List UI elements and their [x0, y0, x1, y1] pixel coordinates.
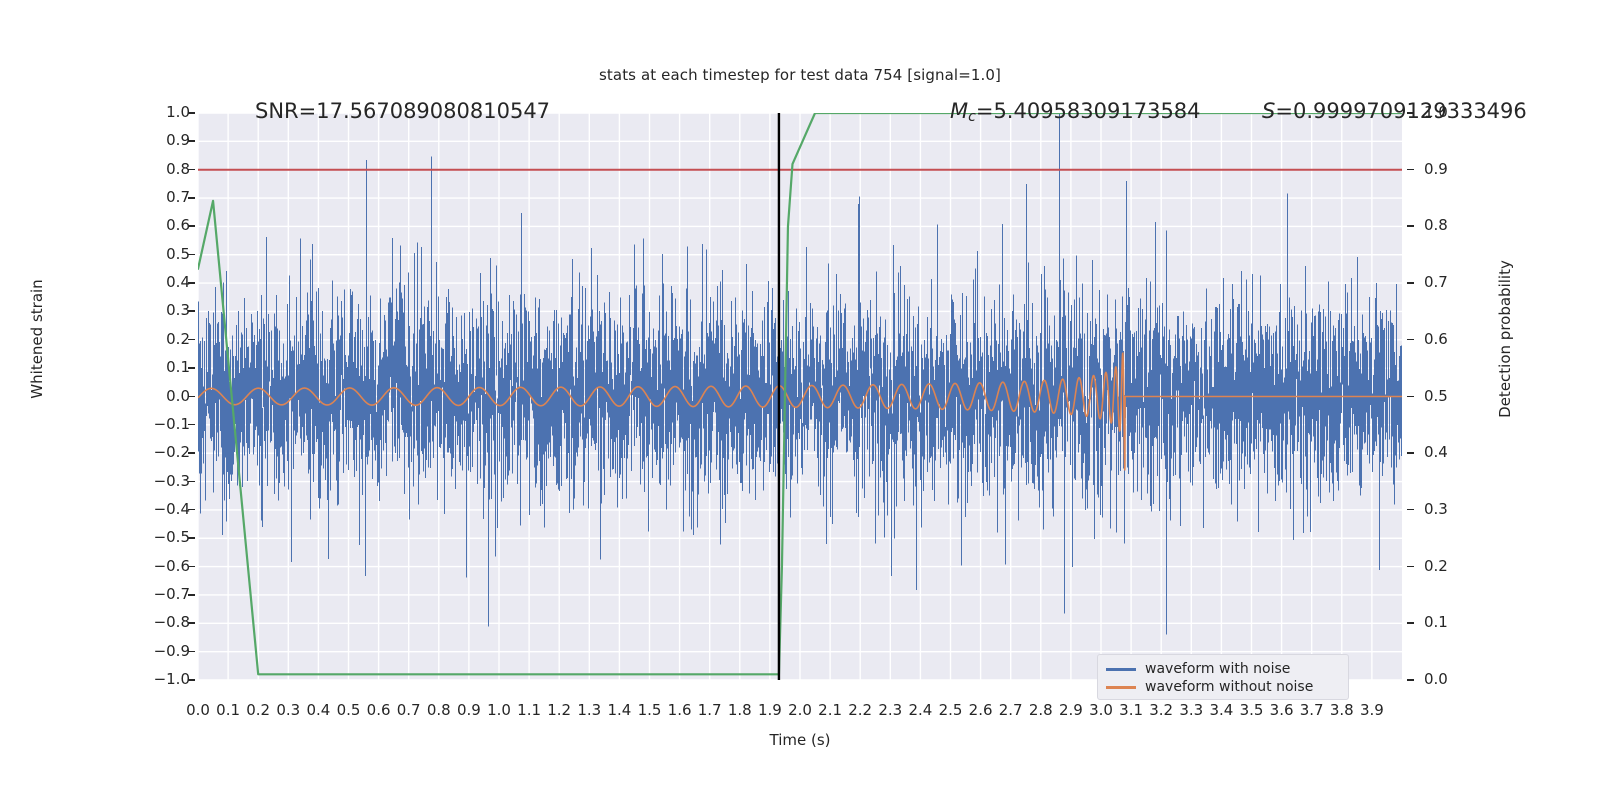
y-tick-label-right: 0.7 — [1424, 275, 1544, 290]
legend-item-label: waveform with noise — [1145, 662, 1290, 676]
y-tick-mark-left — [188, 140, 195, 142]
annotation-s-symbol: S — [1262, 99, 1275, 123]
y-tick-label-left: 0.4 — [70, 275, 190, 290]
y-tick-label-left: −0.7 — [70, 587, 190, 602]
y-tick-mark-left — [188, 509, 195, 511]
y-tick-mark-left — [188, 169, 195, 171]
y-tick-label-left: −0.5 — [70, 530, 190, 545]
chart-figure: stats at each timestep for test data 754… — [0, 0, 1600, 800]
legend-swatch-icon — [1106, 686, 1136, 689]
legend-item[interactable]: waveform without noise — [1106, 678, 1340, 696]
y-tick-label-right: 0.6 — [1424, 332, 1544, 347]
y-tick-label-left: −0.9 — [70, 644, 190, 659]
y-tick-mark-left — [188, 452, 195, 454]
annotation-chirp-mass: Mc=5.40958309173584 — [950, 101, 1201, 124]
annotation-mc-subscript: c — [968, 109, 976, 125]
y-tick-mark-right — [1407, 169, 1414, 171]
y-tick-mark-left — [188, 197, 195, 199]
y-tick-mark-left — [188, 254, 195, 256]
y-tick-label-left: −0.8 — [70, 615, 190, 630]
y-tick-label-left: −0.1 — [70, 417, 190, 432]
y-tick-mark-right — [1407, 396, 1414, 398]
y-tick-mark-left — [188, 424, 195, 426]
y-tick-label-left: 0.0 — [70, 389, 190, 404]
y-tick-mark-left — [188, 481, 195, 483]
y-tick-mark-right — [1407, 566, 1414, 568]
y-tick-mark-right — [1407, 282, 1414, 284]
chart-legend: waveform with noisewaveform without nois… — [1097, 654, 1349, 700]
y-tick-mark-left — [188, 537, 195, 539]
y-tick-label-left: 0.3 — [70, 303, 190, 318]
y-tick-mark-left — [188, 396, 195, 398]
y-tick-label-left: 1.0 — [70, 105, 190, 120]
y-tick-label-right: 0.2 — [1424, 559, 1544, 574]
y-tick-label-left: −0.3 — [70, 474, 190, 489]
y-tick-label-left: 0.8 — [70, 162, 190, 177]
y-tick-label-left: 0.9 — [70, 133, 190, 148]
y-tick-label-left: −0.4 — [70, 502, 190, 517]
y-tick-label-left: 0.6 — [70, 218, 190, 233]
y-tick-label-right: 0.3 — [1424, 502, 1544, 517]
y-tick-label-left: 0.2 — [70, 332, 190, 347]
y-tick-label-right: 0.0 — [1424, 672, 1544, 687]
plot-area — [198, 113, 1402, 680]
y-tick-mark-left — [188, 622, 195, 624]
y-tick-mark-left — [188, 651, 195, 653]
y-tick-label-left: 0.5 — [70, 247, 190, 262]
plot-canvas — [198, 113, 1402, 680]
annotation-score: S=0.9999709129333496 — [1262, 101, 1527, 122]
y-tick-mark-left — [188, 566, 195, 568]
y-tick-mark-left — [188, 310, 195, 312]
y-tick-mark-left — [188, 367, 195, 369]
y-tick-mark-left — [188, 594, 195, 596]
y-tick-label-left: −0.2 — [70, 445, 190, 460]
annotation-mc-equals: = — [976, 99, 994, 123]
y-tick-label-left: 0.7 — [70, 190, 190, 205]
y-tick-label-right: 0.8 — [1424, 218, 1544, 233]
annotation-s-equals: = — [1275, 99, 1293, 123]
annotation-snr-label: SNR= — [255, 99, 316, 123]
y-tick-mark-right — [1407, 509, 1414, 511]
annotation-snr-value: 17.567089080810547 — [316, 99, 550, 123]
x-axis-label: Time (s) — [0, 731, 1600, 749]
y-tick-mark-left — [188, 282, 195, 284]
y-axis-label-left: Whitened strain — [28, 239, 46, 439]
annotation-s-value: 0.9999709129333496 — [1293, 99, 1527, 123]
y-tick-label-right: 0.9 — [1424, 162, 1544, 177]
annotation-mc-value: 5.40958309173584 — [993, 99, 1200, 123]
y-tick-mark-right — [1407, 622, 1414, 624]
y-tick-label-right: 0.5 — [1424, 389, 1544, 404]
y-tick-mark-left — [188, 679, 195, 681]
y-tick-mark-right — [1407, 679, 1414, 681]
y-tick-label-right: 0.1 — [1424, 615, 1544, 630]
y-tick-mark-right — [1407, 225, 1414, 227]
chart-title: stats at each timestep for test data 754… — [0, 66, 1600, 84]
y-tick-label-left: −0.6 — [70, 559, 190, 574]
y-tick-mark-left — [188, 225, 195, 227]
annotation-mc-symbol: M — [950, 99, 968, 123]
y-tick-mark-right — [1407, 339, 1414, 341]
y-tick-mark-left — [188, 112, 195, 114]
annotation-snr: SNR=17.567089080810547 — [255, 101, 550, 122]
y-tick-label-right: 0.4 — [1424, 445, 1544, 460]
y-tick-mark-right — [1407, 452, 1414, 454]
y-tick-label-left: −1.0 — [70, 672, 190, 687]
legend-item-label: waveform without noise — [1145, 680, 1313, 694]
legend-swatch-icon — [1106, 668, 1136, 671]
x-tick-label: 3.9 — [1342, 703, 1402, 718]
legend-item[interactable]: waveform with noise — [1106, 660, 1340, 678]
y-tick-mark-left — [188, 339, 195, 341]
y-tick-label-left: 0.1 — [70, 360, 190, 375]
